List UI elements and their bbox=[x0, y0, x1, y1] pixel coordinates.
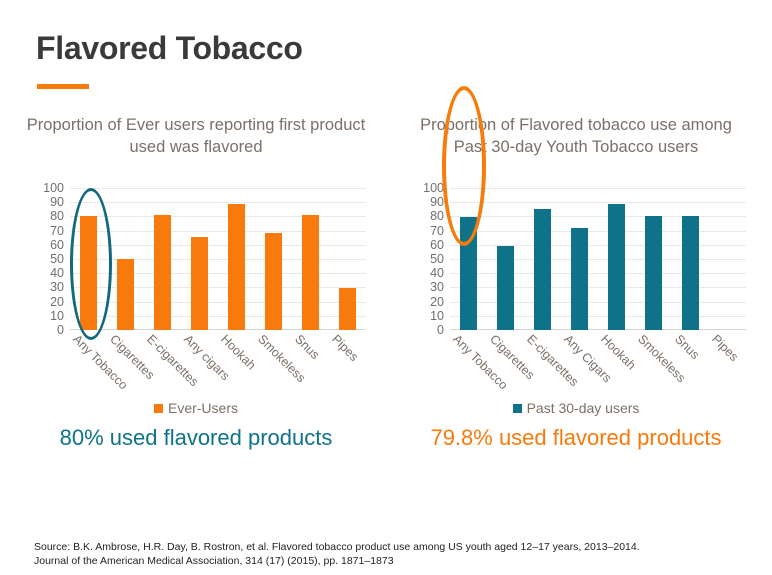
legend-swatch-icon bbox=[154, 404, 163, 413]
y-axis-tick-label: 70 bbox=[430, 224, 444, 238]
x-axis-tick-label: Pipes bbox=[329, 332, 361, 364]
bar-slot bbox=[672, 188, 709, 330]
caption-right: 79.8% used flavored products bbox=[388, 425, 764, 451]
y-axis-tick-label: 0 bbox=[437, 323, 444, 337]
legend-label-right: Past 30-day users bbox=[527, 400, 640, 416]
y-axis-tick-label: 80 bbox=[430, 209, 444, 223]
y-axis-tick-label: 100 bbox=[423, 181, 444, 195]
bar-slot bbox=[292, 188, 329, 330]
bar-slot bbox=[709, 188, 746, 330]
y-axis-tick-label: 60 bbox=[50, 238, 64, 252]
y-axis-tick-label: 20 bbox=[50, 295, 64, 309]
source-note: Source: B.K. Ambrose, H.R. Day, B. Rostr… bbox=[34, 540, 754, 568]
bar[interactable] bbox=[534, 209, 551, 330]
bar-group bbox=[70, 188, 366, 330]
caption-left: 80% used flavored products bbox=[8, 425, 384, 451]
y-axis-tick-label: 30 bbox=[50, 280, 64, 294]
y-axis-tick-label: 40 bbox=[50, 266, 64, 280]
bar-slot bbox=[487, 188, 524, 330]
highlight-ellipse-left bbox=[70, 188, 112, 340]
legend-label-left: Ever-Users bbox=[168, 400, 238, 416]
bar-slot bbox=[635, 188, 672, 330]
plot-area-right: 1009080706050403020100 bbox=[450, 188, 746, 330]
y-axis-tick-label: 10 bbox=[430, 309, 444, 323]
chart-title-left: Proportion of Ever users reporting first… bbox=[26, 114, 366, 158]
y-axis-tick-label: 80 bbox=[50, 209, 64, 223]
bar[interactable] bbox=[117, 259, 134, 330]
title-accent-bar bbox=[37, 84, 89, 89]
bar[interactable] bbox=[571, 228, 588, 330]
plot-area-left: 1009080706050403020100 bbox=[70, 188, 366, 330]
y-axis-tick-label: 50 bbox=[50, 252, 64, 266]
bar-slot bbox=[524, 188, 561, 330]
bar[interactable] bbox=[302, 215, 319, 330]
y-axis-tick-label: 90 bbox=[430, 195, 444, 209]
y-axis-tick-label: 50 bbox=[430, 252, 444, 266]
bar-slot bbox=[218, 188, 255, 330]
bar[interactable] bbox=[265, 233, 282, 330]
bar[interactable] bbox=[191, 237, 208, 330]
bar-slot bbox=[598, 188, 635, 330]
bar[interactable] bbox=[228, 204, 245, 330]
source-line-2: Journal of the American Medical Associat… bbox=[34, 554, 754, 568]
source-line-1: Source: B.K. Ambrose, H.R. Day, B. Rostr… bbox=[34, 540, 754, 554]
y-axis-tick-label: 0 bbox=[57, 323, 64, 337]
y-axis-tick-label: 10 bbox=[50, 309, 64, 323]
y-axis-tick-label: 40 bbox=[430, 266, 444, 280]
bar-slot bbox=[144, 188, 181, 330]
y-axis-tick-label: 90 bbox=[50, 195, 64, 209]
legend-right: Past 30-day users bbox=[388, 400, 764, 416]
highlight-ellipse-right bbox=[442, 86, 486, 246]
y-axis-tick-label: 30 bbox=[430, 280, 444, 294]
bar[interactable] bbox=[608, 204, 625, 330]
bar[interactable] bbox=[339, 288, 356, 330]
y-axis-tick-label: 70 bbox=[50, 224, 64, 238]
legend-left: Ever-Users bbox=[8, 400, 384, 416]
slide-canvas: Flavored Tobacco Proportion of Ever user… bbox=[0, 0, 772, 575]
x-axis-tick-label: Snus bbox=[672, 332, 702, 362]
legend-swatch-icon bbox=[513, 404, 522, 413]
bar[interactable] bbox=[154, 215, 171, 330]
bar-slot bbox=[329, 188, 366, 330]
x-axis-tick-label: Pipes bbox=[709, 332, 741, 364]
bar-slot bbox=[181, 188, 218, 330]
bar[interactable] bbox=[682, 216, 699, 330]
y-axis-tick-label: 20 bbox=[430, 295, 444, 309]
bar-slot bbox=[561, 188, 598, 330]
bar-group bbox=[450, 188, 746, 330]
bar-slot bbox=[107, 188, 144, 330]
bar-slot bbox=[255, 188, 292, 330]
chart-panel-ever-users: Proportion of Ever users reporting first… bbox=[8, 100, 384, 570]
x-axis-tick-label: Snus bbox=[292, 332, 322, 362]
bar[interactable] bbox=[645, 216, 662, 330]
y-axis-tick-label: 100 bbox=[43, 181, 64, 195]
bar[interactable] bbox=[497, 246, 514, 330]
page-title: Flavored Tobacco bbox=[36, 30, 303, 67]
y-axis-tick-label: 60 bbox=[430, 238, 444, 252]
